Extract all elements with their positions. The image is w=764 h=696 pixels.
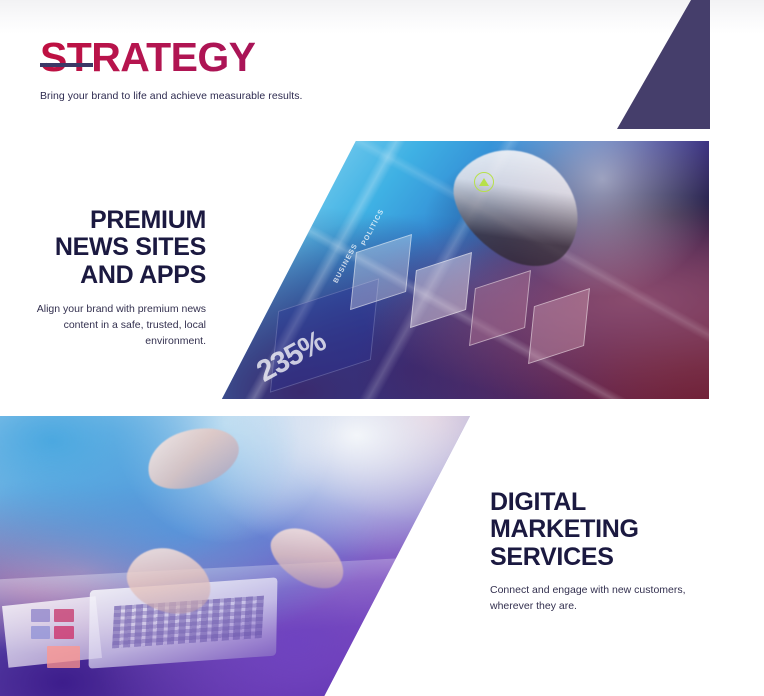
digital-marketing-image	[0, 416, 470, 696]
slide-header: STRATEGY Bring your brand to life and ac…	[0, 0, 764, 132]
page-title: STRATEGY	[40, 37, 255, 78]
slide-canvas: STRATEGY Bring your brand to life and ac…	[0, 0, 764, 696]
colour-swatch-1	[31, 609, 51, 622]
premium-news-image: POLITICS BUSINESS 235%	[215, 141, 709, 399]
premium-news-body: Align your brand with premium news conte…	[18, 301, 206, 350]
colour-swatch-5	[47, 646, 80, 668]
page-subtitle: Bring your brand to life and achieve mea…	[40, 90, 303, 102]
colour-swatch-2	[54, 609, 74, 622]
colour-swatch-3	[31, 626, 51, 639]
digital-marketing-text-block: DIGITAL MARKETING SERVICES Connect and e…	[490, 489, 700, 614]
premium-news-heading: PREMIUM NEWS SITES AND APPS	[18, 207, 206, 289]
digital-marketing-heading: DIGITAL MARKETING SERVICES	[490, 489, 700, 571]
title-underline-rule	[40, 63, 93, 67]
digital-marketing-body: Connect and engage with new customers, w…	[490, 582, 700, 615]
premium-news-text-block: PREMIUM NEWS SITES AND APPS Align your b…	[18, 207, 206, 350]
colour-swatch-4	[54, 626, 74, 639]
header-purple-wedge	[610, 0, 710, 129]
